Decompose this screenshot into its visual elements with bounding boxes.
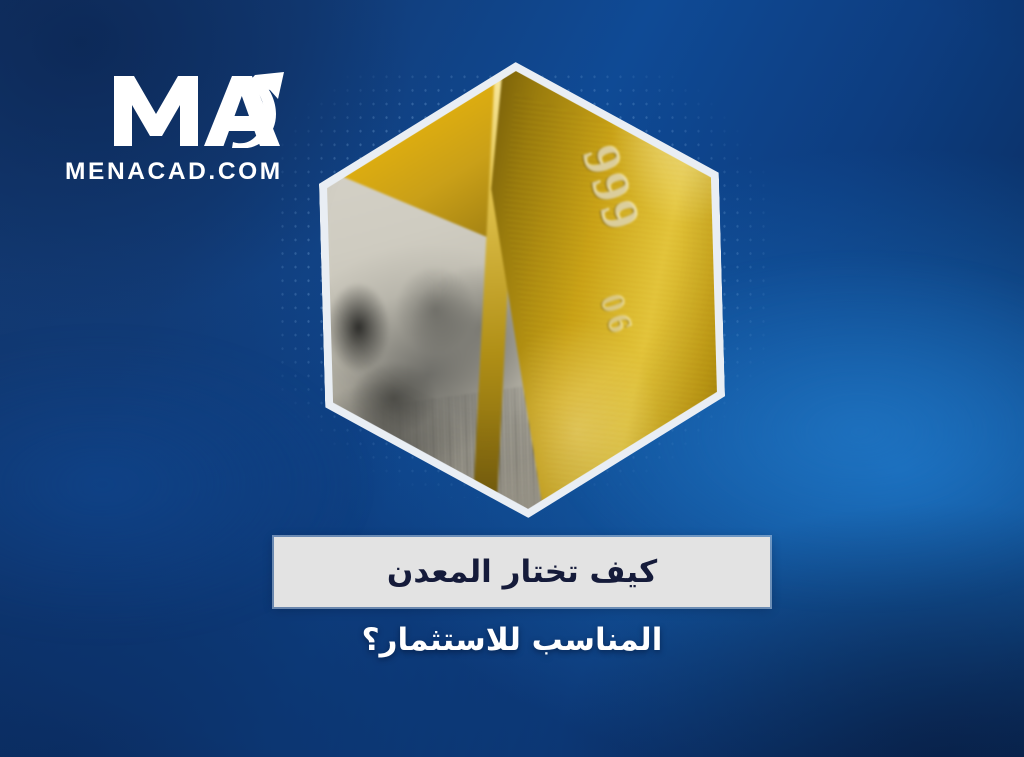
title-banner: كيف تختار المعدن [274, 537, 770, 607]
title-line-1: كيف تختار المعدن [387, 554, 657, 590]
photo-soft-focus-overlay [324, 66, 720, 515]
logo-ma-arrow-icon [112, 72, 302, 148]
hexagon-photo-clip: 99 999 06 [324, 66, 720, 515]
logo-mark [112, 72, 302, 146]
social-card: MENACAD.COM 99 999 06 كيف تختار المعدن ا… [0, 0, 1024, 757]
logo-domain-text: MENACAD.COM [65, 158, 283, 186]
brand-logo[interactable]: MENACAD.COM [62, 72, 302, 192]
title-line-2: المناسب للاستثمار؟ [0, 622, 1024, 658]
hero-hexagon-frame: 99 999 06 [316, 57, 729, 524]
gold-bar-photo: 99 999 06 [324, 66, 720, 515]
